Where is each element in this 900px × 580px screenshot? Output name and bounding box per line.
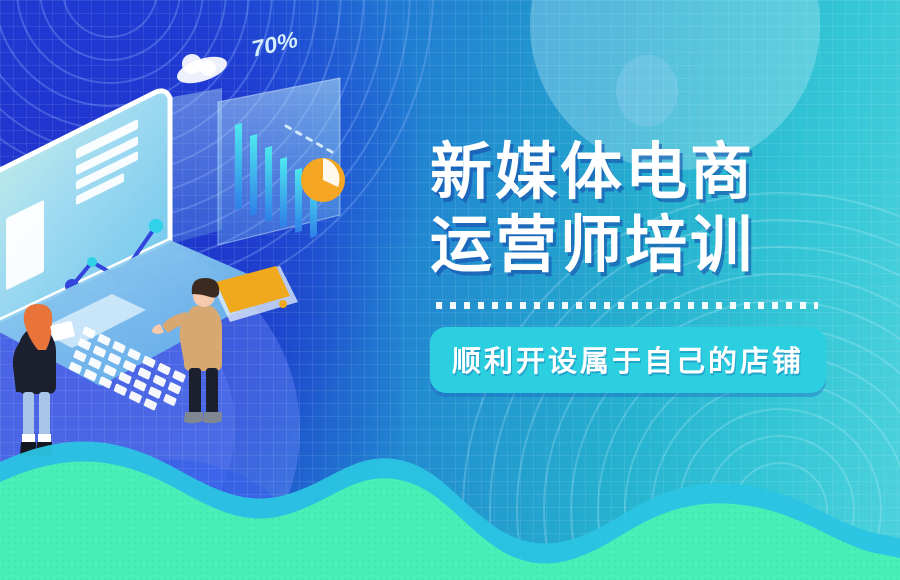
subtitle-text: 顺利开设属于自己的店铺 bbox=[452, 346, 804, 378]
promo-banner: 70% bbox=[0, 0, 900, 580]
stat-label-70: 70% bbox=[251, 26, 298, 62]
headline-line-1: 新媒体电商 bbox=[430, 140, 860, 207]
subtitle-box: 顺利开设属于自己的店铺 bbox=[430, 327, 826, 393]
dashboard-panel: 70% bbox=[218, 26, 345, 245]
headline-line-2: 运营师培训 bbox=[430, 213, 860, 280]
cloud-icon bbox=[174, 52, 230, 89]
bottom-wave-decor bbox=[0, 390, 900, 580]
text-block: 新媒体电商 运营师培训 顺利开设属于自己的店铺 bbox=[430, 140, 860, 393]
dotted-divider bbox=[436, 302, 818, 309]
